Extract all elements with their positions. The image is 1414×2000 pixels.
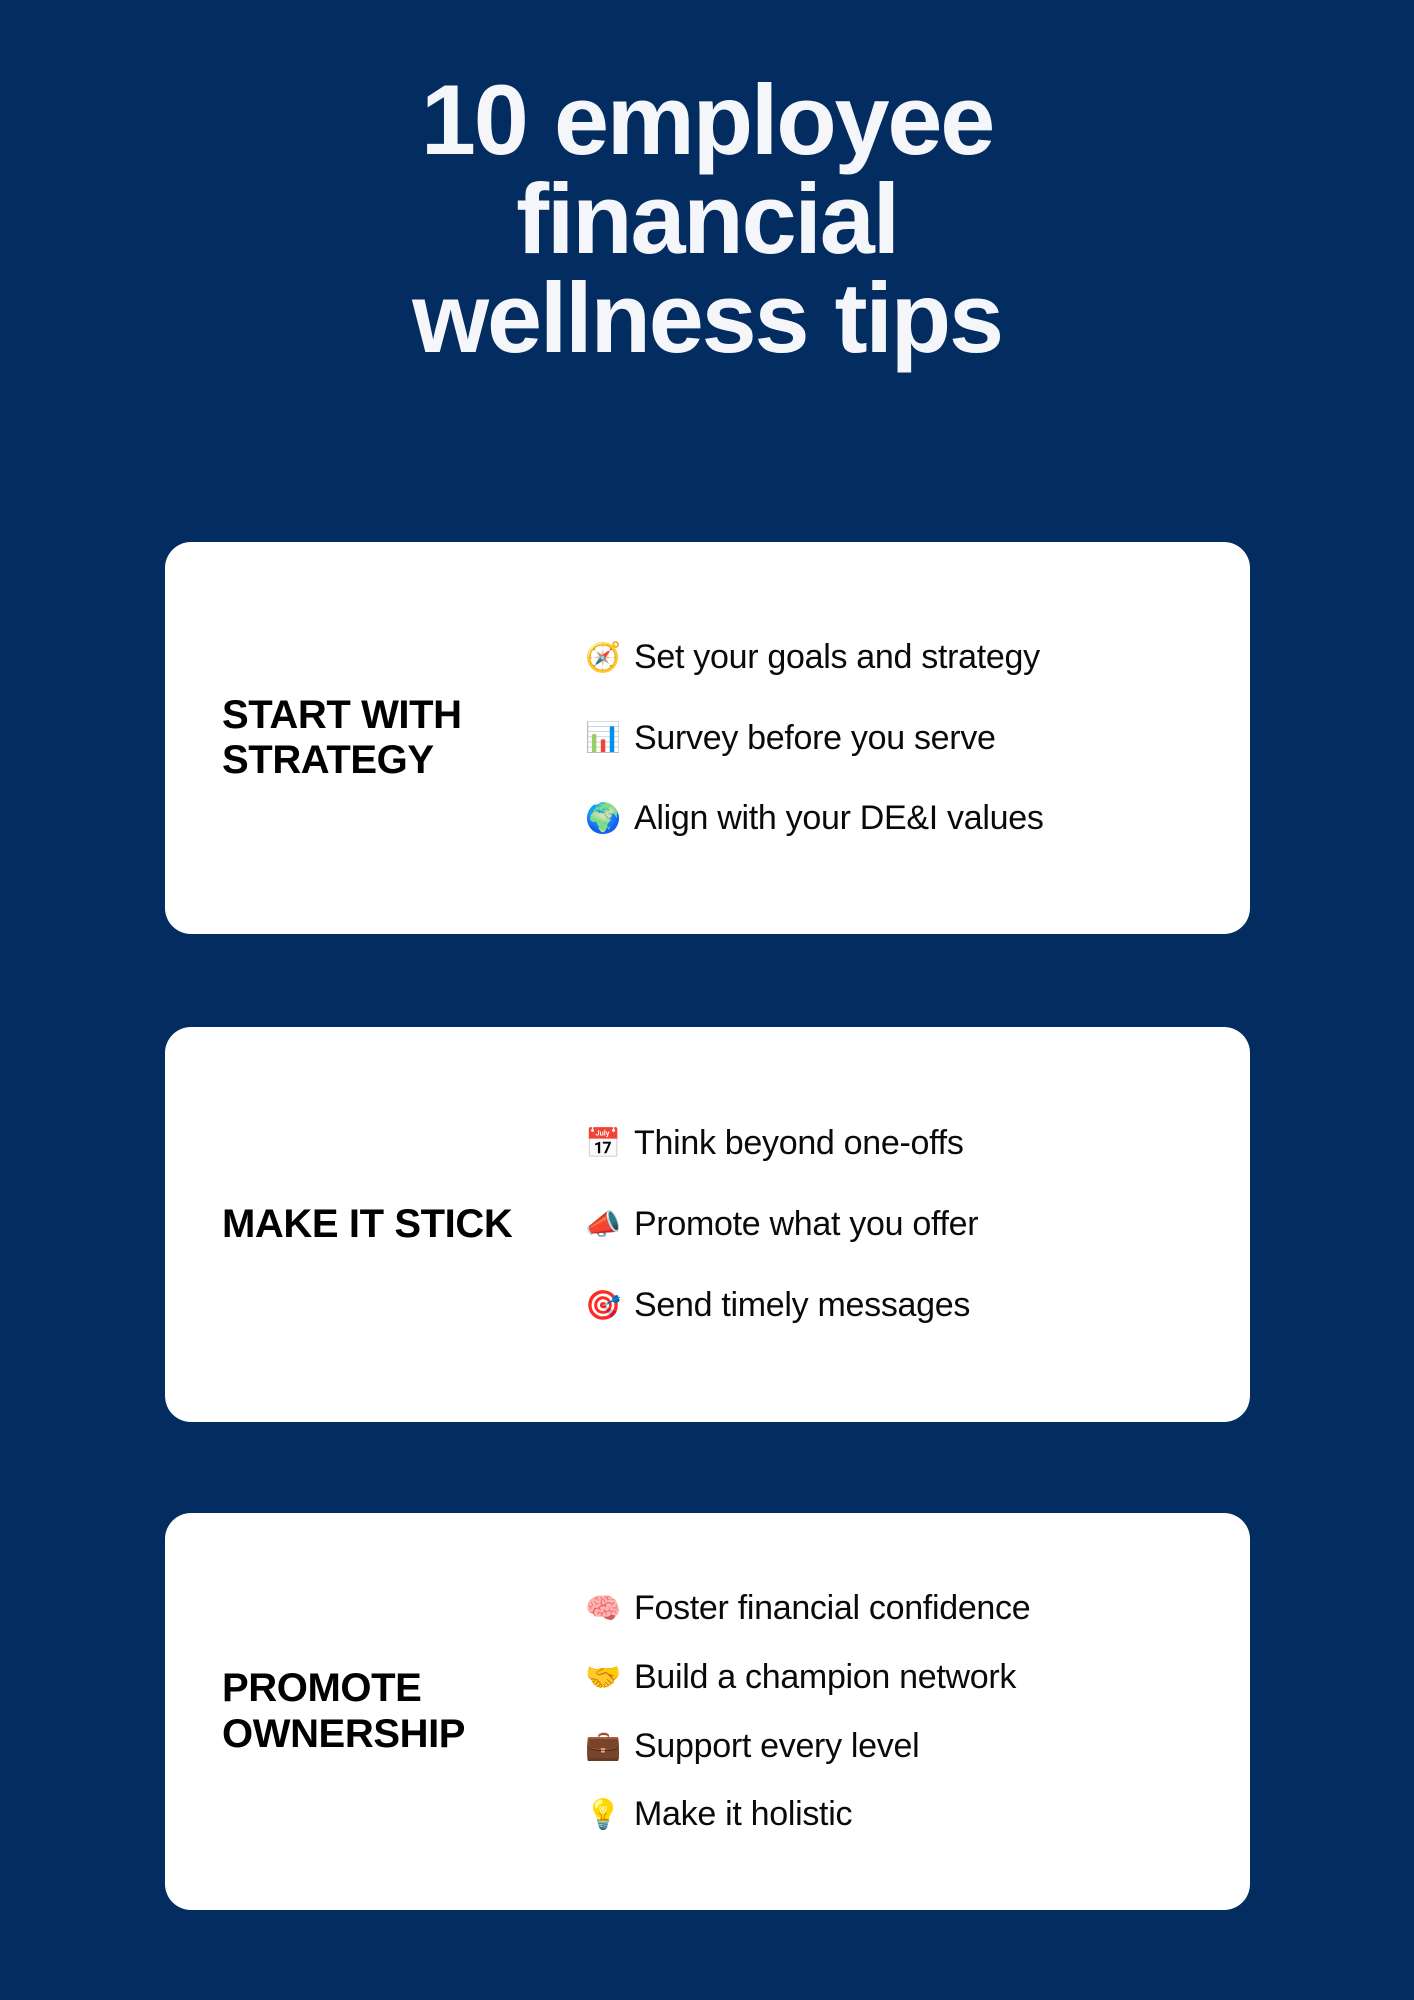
globe-icon: 🌍 [585,804,619,833]
tips-card-promote-ownership: PROMOTE OWNERSHIP 🧠 Foster financial con… [165,1513,1250,1910]
handshake-icon: 🤝 [585,1663,619,1692]
tips-card-start-with-strategy: START WITH STRATEGY 🧭 Set your goals and… [165,542,1250,934]
briefcase-icon: 💼 [585,1731,619,1760]
tips-list: 🧠 Foster financial confidence 🤝 Build a … [585,1574,1250,1849]
compass-icon: 🧭 [585,643,619,672]
megaphone-icon: 📣 [585,1210,619,1239]
card-heading-line-2: OWNERSHIP [222,1712,575,1757]
list-item-label: Build a champion network [634,1657,1016,1698]
card-heading-line-1: START WITH [222,693,575,738]
list-item: 🧭 Set your goals and strategy [585,637,1250,678]
lightbulb-icon: 💡 [585,1800,619,1829]
page-title-line-1: 10 employee [180,70,1234,169]
calendar-icon: 📅 [585,1129,619,1158]
bar-chart-icon: 📊 [585,723,619,752]
target-icon: 🎯 [585,1291,619,1320]
list-item: 🧠 Foster financial confidence [585,1588,1250,1629]
list-item-label: Set your goals and strategy [634,637,1040,678]
card-heading-line-2: STRATEGY [222,738,575,783]
page-title-line-3: wellness tips [180,268,1234,367]
page-title: 10 employee financial wellness tips [0,70,1414,367]
tips-card-make-it-stick: MAKE IT STICK 📅 Think beyond one-offs 📣 … [165,1027,1250,1422]
brain-icon: 🧠 [585,1594,619,1623]
list-item: 📅 Think beyond one-offs [585,1123,1250,1164]
list-item-label: Send timely messages [634,1285,970,1326]
list-item-label: Think beyond one-offs [634,1123,964,1164]
list-item: 📣 Promote what you offer [585,1204,1250,1245]
list-item: 🎯 Send timely messages [585,1285,1250,1326]
list-item: 🌍 Align with your DE&I values [585,798,1250,839]
page-title-line-2: financial [180,169,1234,268]
card-heading: PROMOTE OWNERSHIP [165,1666,585,1756]
list-item-label: Foster financial confidence [634,1588,1030,1629]
list-item: 🤝 Build a champion network [585,1657,1250,1698]
list-item: 📊 Survey before you serve [585,718,1250,759]
tips-list: 🧭 Set your goals and strategy 📊 Survey b… [585,617,1250,859]
list-item-label: Make it holistic [634,1794,852,1835]
card-heading-line-1: PROMOTE [222,1666,575,1711]
list-item-label: Promote what you offer [634,1204,978,1245]
infographic-poster: 10 employee financial wellness tips STAR… [0,0,1414,2000]
card-heading-line-1: MAKE IT STICK [222,1202,575,1247]
list-item: 💼 Support every level [585,1726,1250,1767]
list-item: 💡 Make it holistic [585,1794,1250,1835]
list-item-label: Align with your DE&I values [634,798,1044,839]
list-item-label: Support every level [634,1726,919,1767]
list-item-label: Survey before you serve [634,718,996,759]
tips-list: 📅 Think beyond one-offs 📣 Promote what y… [585,1103,1250,1345]
card-heading: START WITH STRATEGY [165,693,585,783]
card-heading: MAKE IT STICK [165,1202,585,1247]
